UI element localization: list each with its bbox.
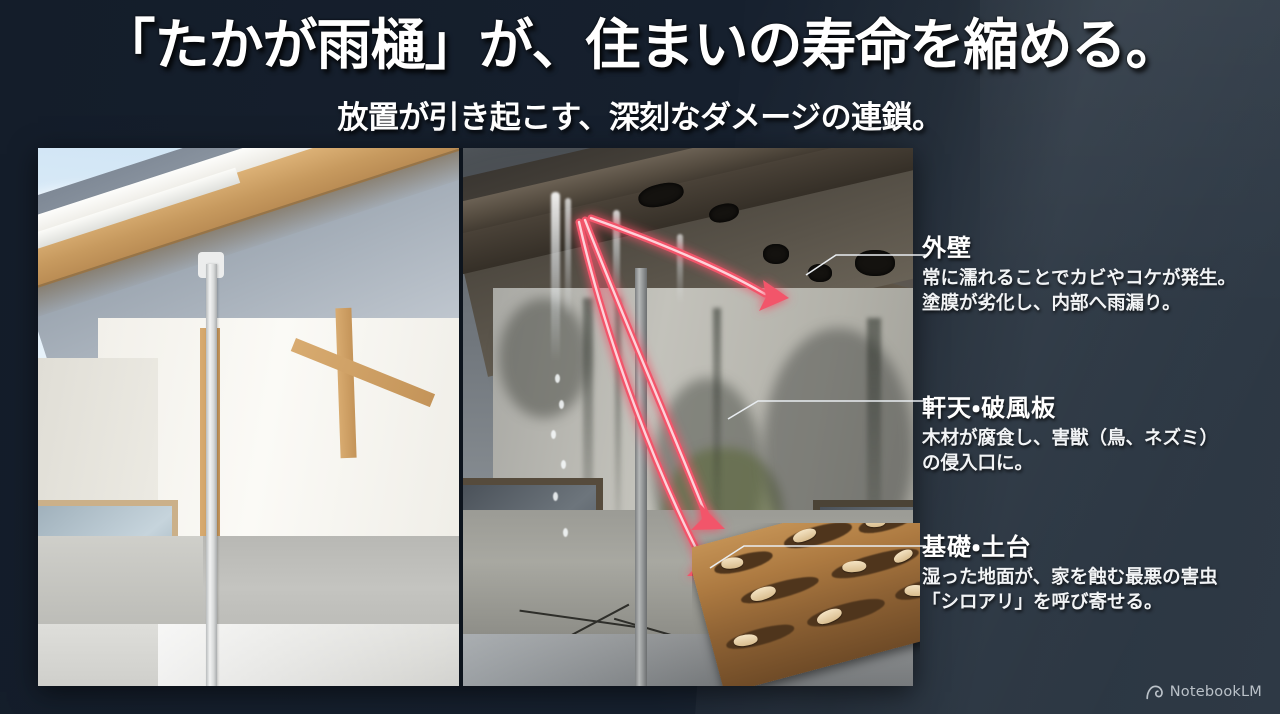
water-overflow [551,192,560,362]
pest-entry-hole [763,244,789,264]
inset-termite-damaged-wood [692,523,920,686]
annotation-body: 常に濡れることでカビやコケが発生。 塗膜が劣化し、内部へ雨漏り。 [922,267,1268,317]
termite-galley [805,594,887,632]
downpipe-intact [206,264,217,686]
termite-log [692,523,920,686]
water-droplet [559,400,564,409]
water-droplet [551,430,556,439]
photo-healthy-house [38,148,459,686]
water-droplet [553,492,558,501]
annotation-heading: 軒天・破風板 [922,388,1268,423]
annotation-heading: 外壁 [922,228,1268,263]
annotation-soffit-bargeboard: 軒天・破風板 木材が腐食し、害獣（鳥、ネズミ） の侵入口に。 [922,388,1268,477]
termite-galley [724,620,796,654]
notebooklm-icon [1146,685,1163,700]
pest-entry-hole [855,250,895,276]
watermark-label: NotebookLM [1170,684,1262,700]
annotation-heading: 基礎・土台 [922,527,1268,562]
ground-sunlight [158,624,459,686]
annotation-foundation-base: 基礎・土台 湿った地面が、家を蝕む最悪の害虫 「シロアリ」を呼び寄せる。 [922,527,1268,616]
water-overflow [565,198,571,318]
termite-galley [857,523,915,537]
foundation-step [38,536,203,628]
termite [904,585,920,596]
pest-entry-hole [808,264,832,282]
annotation-exterior-wall: 外壁 常に濡れることでカビやコケが発生。 塗膜が劣化し、内部へ雨漏り。 [922,228,1268,317]
annotation-body: 湿った地面が、家を蝕む最悪の害虫 「シロアリ」を呼び寄せる。 [922,566,1268,616]
page-subtitle: 放置が引き起こす、深刻なダメージの連鎖。 [0,92,1280,137]
page-title: 「たかが雨樋」が、住まいの寿命を縮める。 [0,16,1280,74]
annotation-body: 木材が腐食し、害獣（鳥、ネズミ） の侵入口に。 [922,427,1268,477]
water-overflow [613,210,620,305]
water-overflow [677,234,683,304]
termite-galley [739,572,820,608]
mould-patch [499,298,589,418]
photo-divider [459,148,463,686]
notebooklm-watermark: NotebookLM [1146,684,1262,700]
water-droplet [561,460,566,469]
water-droplet [555,374,560,383]
water-droplet [563,528,568,537]
slide-root: 「たかが雨樋」が、住まいの寿命を縮める。 放置が引き起こす、深刻なダメージの連鎖… [0,0,1280,714]
downpipe-broken [635,268,647,686]
